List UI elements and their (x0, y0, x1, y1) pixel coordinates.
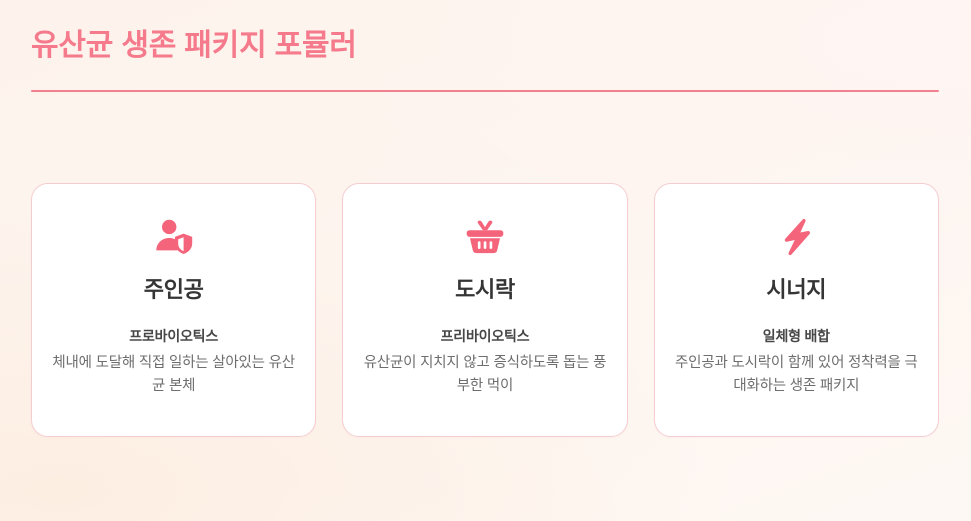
card-description: 체내에 도달해 직접 일하는 살아있는 유산균 본체 (50, 352, 297, 398)
slide-header: 유산균 생존 패키지 포뮬러 (31, 26, 939, 66)
card-subtitle: 일체형 배합 (763, 326, 830, 346)
slide-canvas: 유산균 생존 패키지 포뮬러 주인공 프로바이오틱스 체내에 도달해 직접 일하… (0, 0, 971, 521)
feature-card-lunchbox[interactable]: 도시락 프리바이오틱스 유산균이 지치지 않고 증식하도록 돕는 풍부한 먹이 (342, 183, 627, 437)
card-title: 주인공 (144, 276, 204, 304)
card-title: 도시락 (455, 276, 515, 304)
card-description: 유산균이 지치지 않고 증식하도록 돕는 풍부한 먹이 (361, 352, 608, 398)
person-shield-icon (151, 214, 197, 260)
feature-card-row: 주인공 프로바이오틱스 체내에 도달해 직접 일하는 살아있는 유산균 본체 도… (31, 183, 939, 437)
feature-card-synergy[interactable]: 시너지 일체형 배합 주인공과 도시락이 함께 있어 정착력을 극대화하는 생존… (654, 183, 939, 437)
shopping-basket-icon (463, 214, 507, 260)
feature-card-protagonist[interactable]: 주인공 프로바이오틱스 체내에 도달해 직접 일하는 살아있는 유산균 본체 (31, 183, 316, 437)
card-subtitle: 프로바이오틱스 (129, 326, 218, 346)
card-description: 주인공과 도시락이 함께 있어 정착력을 극대화하는 생존 패키지 (673, 352, 920, 398)
title-divider (31, 90, 939, 92)
card-title: 시너지 (766, 276, 826, 304)
lightning-bolt-icon (774, 214, 818, 260)
card-subtitle: 프리바이오틱스 (441, 326, 530, 346)
page-title: 유산균 생존 패키지 포뮬러 (31, 26, 939, 66)
